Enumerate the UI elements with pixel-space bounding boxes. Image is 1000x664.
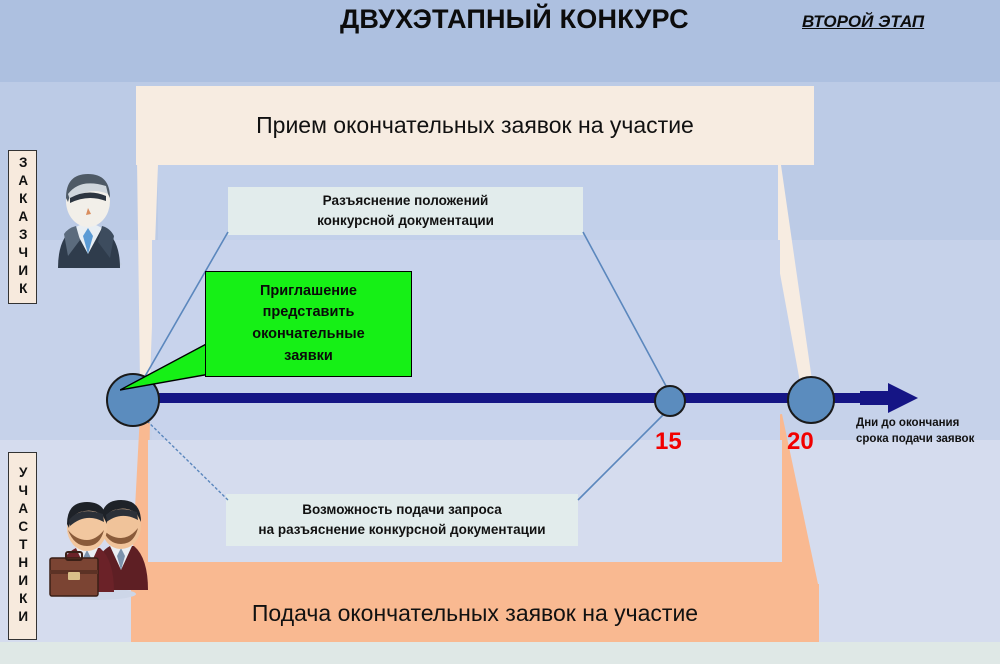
right-arrow-icon: [860, 383, 930, 415]
connector-request-to-day15: [578, 412, 666, 500]
callout-line3: окончательные: [252, 324, 365, 346]
businessman-icon: [44, 168, 130, 270]
businessmen-with-briefcase-icon: [42, 478, 154, 602]
axis-caption-line1: Дни до окончания: [856, 416, 996, 432]
axis-caption-line2: срока подачи заявок: [856, 432, 996, 448]
callout-line4: заявки: [284, 346, 333, 368]
side-label-participants: УЧАСТНИКИ: [8, 452, 37, 640]
side-label-customer-text: ЗАКАЗЧИК: [14, 155, 30, 299]
side-label-customer: ЗАКАЗЧИК: [8, 150, 37, 304]
callout-line1: Приглашение: [260, 281, 357, 303]
timeline-node-day20[interactable]: [787, 376, 835, 424]
timeline-axis-caption: Дни до окончания срока подачи заявок: [856, 416, 996, 447]
side-label-participants-text: УЧАСТНИКИ: [14, 465, 30, 627]
timeline-node-day15[interactable]: [654, 385, 686, 417]
callout-invitation: Приглашение представить окончательные за…: [205, 271, 412, 377]
callout-line2: представить: [263, 302, 355, 324]
connector-clarification-to-day15: [583, 232, 666, 386]
timeline-marker-label-15: 15: [655, 428, 682, 456]
timeline-axis: [133, 393, 873, 403]
diagram-canvas: ДВУХЭТАПНЫЙ КОНКУРС ВТОРОЙ ЭТАП Прием ок…: [0, 0, 1000, 664]
timeline-marker-label-20: 20: [787, 428, 814, 456]
